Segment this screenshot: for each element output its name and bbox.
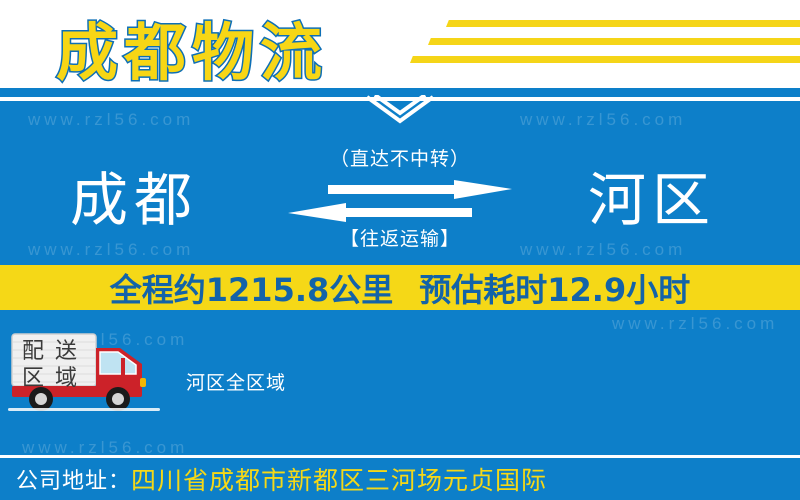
watermark: www.rzl56.com <box>612 314 778 334</box>
route-note-roundtrip: 【往返运输】 <box>296 224 504 251</box>
truck-box-label-line1: 配 送 <box>22 338 88 365</box>
watermark: www.rzl56.com <box>28 240 194 260</box>
bidirectional-arrow-icon <box>288 180 512 222</box>
watermark: www.rzl56.com <box>520 240 686 260</box>
address-label: 公司地址： <box>16 463 131 495</box>
watermark: www.rzl56.com <box>28 110 194 130</box>
origin-city: 成都 <box>70 168 198 232</box>
footer-bar: 公司地址： 四川省成都市新都区三河场元贞国际 <box>0 458 800 500</box>
coverage-text: 河区全区域 <box>186 368 286 395</box>
logistics-banner: 成都物流 www.rzl56.com www.rzl56.com www.rzl… <box>0 0 800 500</box>
watermark: www.rzl56.com <box>520 110 686 130</box>
chevron-down-icon <box>365 95 435 129</box>
truck-box-label-line2: 区 域 <box>22 365 88 392</box>
decorative-stripe-1 <box>446 20 800 27</box>
distance-text: 全程约1215.8公里 <box>110 265 394 311</box>
stats-bar: 全程约1215.8公里 预估耗时12.9小时 <box>0 265 800 310</box>
route-note-direct: （直达不中转） <box>296 144 504 171</box>
duration-text: 预估耗时12.9小时 <box>419 265 690 311</box>
truck-box-label: 配 送 区 域 <box>22 338 88 394</box>
header-band: 成都物流 <box>0 0 800 88</box>
decorative-stripe-3 <box>410 56 800 63</box>
decorative-stripe-2 <box>428 38 800 45</box>
address-value: 四川省成都市新都区三河场元贞国际 <box>131 461 547 497</box>
destination-city: 河区 <box>588 168 716 232</box>
page-title: 成都物流 <box>56 2 328 88</box>
